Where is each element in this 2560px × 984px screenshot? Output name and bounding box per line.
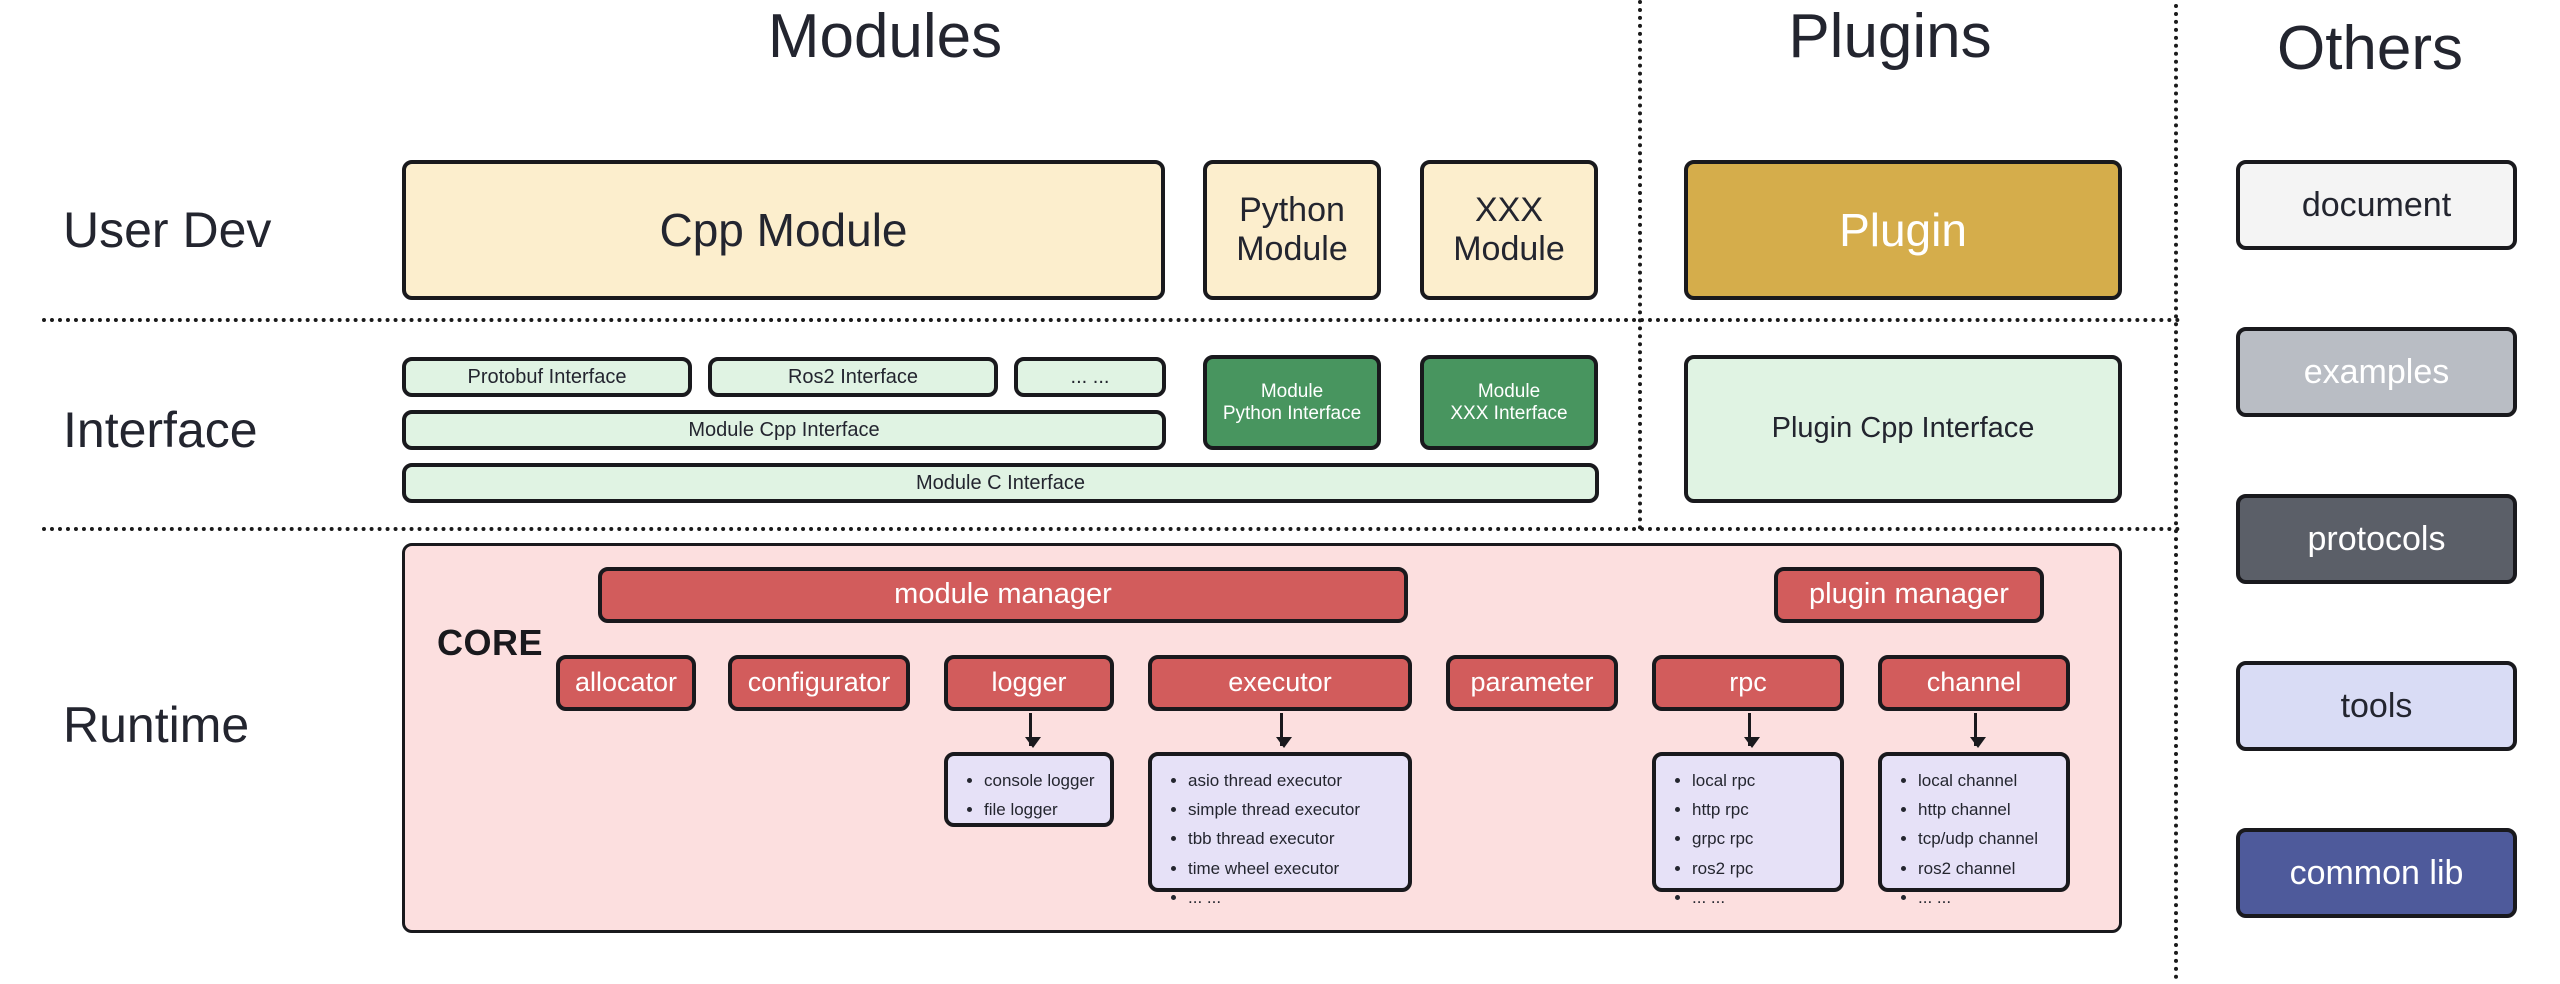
list-item: local rpc bbox=[1692, 766, 1830, 795]
list-item: ... ... bbox=[1692, 883, 1830, 912]
row-label-interface: Interface bbox=[63, 405, 258, 455]
executor-items-list: asio thread executorsimple thread execut… bbox=[1166, 766, 1398, 912]
others-item-protocols[interactable]: protocols bbox=[2236, 494, 2517, 584]
column-title-others: Others bbox=[2210, 18, 2530, 80]
divider-interface-runtime bbox=[42, 527, 2182, 531]
list-item: tcp/udp channel bbox=[1918, 824, 2056, 853]
architecture-diagram: Modules Plugins Others User Dev Interfac… bbox=[0, 0, 2560, 984]
plugin-manager-box[interactable]: plugin manager bbox=[1774, 567, 2044, 623]
list-item: http channel bbox=[1918, 795, 2056, 824]
component-allocator[interactable]: allocator bbox=[556, 655, 696, 711]
xxx-module-box[interactable]: XXX Module bbox=[1420, 160, 1598, 300]
component-channel[interactable]: channel bbox=[1878, 655, 2070, 711]
component-parameter[interactable]: parameter bbox=[1446, 655, 1618, 711]
list-item: local channel bbox=[1918, 766, 2056, 795]
python-module-box[interactable]: Python Module bbox=[1203, 160, 1381, 300]
ellipsis-interface-box[interactable]: ... ... bbox=[1014, 357, 1166, 397]
rpc-items-box[interactable]: local rpchttp rpcgrpc rpcros2 rpc... ... bbox=[1652, 752, 1844, 892]
module-c-interface-box[interactable]: Module C Interface bbox=[402, 463, 1599, 503]
component-logger[interactable]: logger bbox=[944, 655, 1114, 711]
column-title-plugins: Plugins bbox=[1700, 6, 2080, 68]
list-item: asio thread executor bbox=[1188, 766, 1398, 795]
list-item: ... ... bbox=[1918, 883, 2056, 912]
core-label: CORE bbox=[437, 622, 543, 664]
list-item: http rpc bbox=[1692, 795, 1830, 824]
component-configurator[interactable]: configurator bbox=[728, 655, 910, 711]
others-item-document[interactable]: document bbox=[2236, 160, 2517, 250]
list-item: grpc rpc bbox=[1692, 824, 1830, 853]
cpp-module-box[interactable]: Cpp Module bbox=[402, 160, 1165, 300]
logger-items-list: console loggerfile logger bbox=[962, 766, 1100, 824]
logger-items-box[interactable]: console loggerfile logger bbox=[944, 752, 1114, 827]
executor-items-box[interactable]: asio thread executorsimple thread execut… bbox=[1148, 752, 1412, 892]
list-item: time wheel executor bbox=[1188, 854, 1398, 883]
channel-items-box[interactable]: local channelhttp channeltcp/udp channel… bbox=[1878, 752, 2070, 892]
column-title-modules: Modules bbox=[655, 6, 1115, 68]
list-item: simple thread executor bbox=[1188, 795, 1398, 824]
protobuf-interface-box[interactable]: Protobuf Interface bbox=[402, 357, 692, 397]
others-item-common-lib[interactable]: common lib bbox=[2236, 828, 2517, 918]
ros2-interface-box[interactable]: Ros2 Interface bbox=[708, 357, 998, 397]
row-label-runtime: Runtime bbox=[63, 700, 249, 750]
component-rpc[interactable]: rpc bbox=[1652, 655, 1844, 711]
list-item: ... ... bbox=[1188, 883, 1398, 912]
plugin-box[interactable]: Plugin bbox=[1684, 160, 2122, 300]
arrow-channel bbox=[1974, 713, 1977, 746]
module-cpp-interface-box[interactable]: Module Cpp Interface bbox=[402, 410, 1166, 450]
arrow-logger bbox=[1029, 713, 1032, 746]
list-item: file logger bbox=[984, 795, 1100, 824]
list-item: ros2 channel bbox=[1918, 854, 2056, 883]
row-label-user-dev: User Dev bbox=[63, 205, 271, 255]
divider-modules-plugins bbox=[1638, 0, 1642, 530]
channel-items-list: local channelhttp channeltcp/udp channel… bbox=[1896, 766, 2056, 912]
list-item: tbb thread executor bbox=[1188, 824, 1398, 853]
list-item: ros2 rpc bbox=[1692, 854, 1830, 883]
list-item: console logger bbox=[984, 766, 1100, 795]
plugin-cpp-interface-box[interactable]: Plugin Cpp Interface bbox=[1684, 355, 2122, 503]
component-executor[interactable]: executor bbox=[1148, 655, 1412, 711]
arrow-executor bbox=[1280, 713, 1283, 746]
divider-plugins-others bbox=[2174, 4, 2178, 980]
others-item-examples[interactable]: examples bbox=[2236, 327, 2517, 417]
rpc-items-list: local rpchttp rpcgrpc rpcros2 rpc... ... bbox=[1670, 766, 1830, 912]
module-manager-box[interactable]: module manager bbox=[598, 567, 1408, 623]
arrow-rpc bbox=[1748, 713, 1751, 746]
divider-user-dev-interface bbox=[42, 318, 2182, 322]
module-python-interface-box[interactable]: Module Python Interface bbox=[1203, 355, 1381, 450]
others-item-tools[interactable]: tools bbox=[2236, 661, 2517, 751]
module-xxx-interface-box[interactable]: Module XXX Interface bbox=[1420, 355, 1598, 450]
